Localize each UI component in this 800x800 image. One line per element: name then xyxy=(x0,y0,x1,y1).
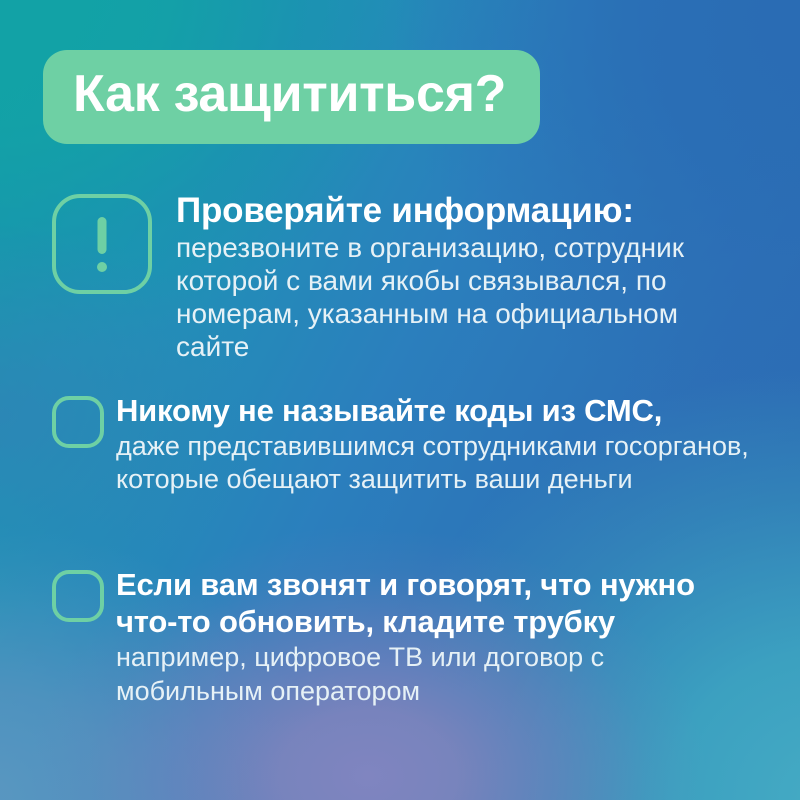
poster-content: Как защититься? Проверяйте информацию: п… xyxy=(0,0,800,800)
tip-item-2: Никому не называйте коды из СМС, даже пр… xyxy=(52,392,752,496)
exclamation-rounded-square-icon xyxy=(52,194,152,294)
tip-text-2: Никому не называйте коды из СМС, даже пр… xyxy=(116,392,752,496)
tip-body-3: например, цифровое ТВ или договор с моби… xyxy=(116,640,752,708)
tip-body-2: даже представившимся сотрудниками госорг… xyxy=(116,430,752,496)
tip-headline-1: Проверяйте информацию: xyxy=(176,190,742,231)
tip-item-1: Проверяйте информацию: перезвоните в орг… xyxy=(52,190,752,363)
exclamation-bar-icon xyxy=(98,217,107,254)
title-pill: Как защититься? xyxy=(43,50,540,144)
page-title: Как защититься? xyxy=(73,64,506,124)
tip-body-1: перезвоните в организацию, сотрудник кот… xyxy=(176,231,742,363)
empty-rounded-square-icon xyxy=(52,570,104,622)
tip-item-3: Если вам звонят и говорят, что нужно что… xyxy=(52,566,752,708)
tip-headline-3: Если вам звонят и говорят, что нужно что… xyxy=(116,566,752,640)
exclamation-dot-icon xyxy=(97,262,107,272)
tip-text-1: Проверяйте информацию: перезвоните в орг… xyxy=(176,190,742,363)
tip-headline-2: Никому не называйте коды из СМС, xyxy=(116,392,752,430)
infographic-poster: Как защититься? Проверяйте информацию: п… xyxy=(0,0,800,800)
tip-text-3: Если вам звонят и говорят, что нужно что… xyxy=(116,566,752,708)
empty-rounded-square-icon xyxy=(52,396,104,448)
